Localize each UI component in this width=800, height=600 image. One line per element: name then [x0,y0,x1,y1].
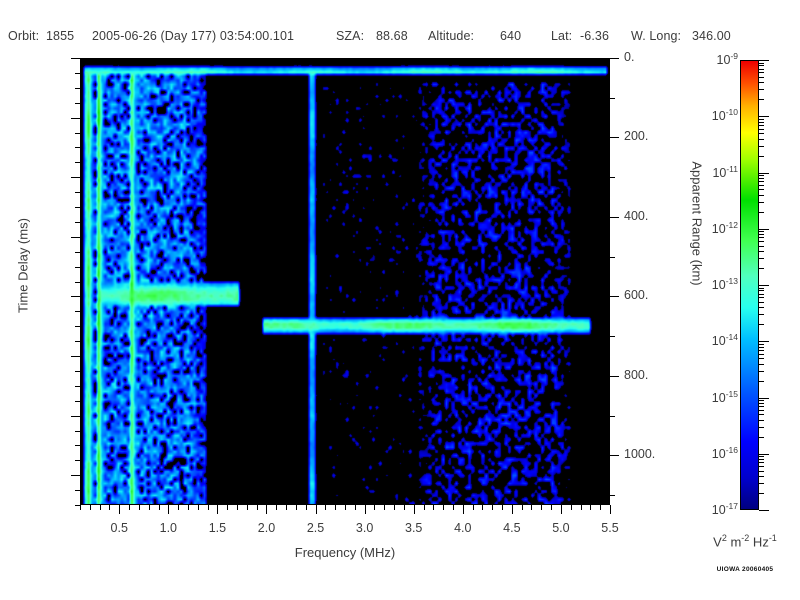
colorbar-tick-minor [759,297,764,298]
colorbar-tick-minor [759,459,764,460]
x-tick-minor [109,505,110,510]
x-tick-label-10: 5.5 [580,521,640,535]
y2-tick-minor [610,336,615,337]
x-tick-minor [571,505,572,510]
colorbar-tick-minor [759,294,764,295]
y2-tick-label-5: 1000. [624,447,655,461]
y2-tick-minor [610,98,615,99]
colorbar-tick-minor [759,350,764,351]
ionogram-page: Orbit:18552005-06-26 (Day 177) 03:54:00.… [0,0,800,600]
x-tick-minor [159,505,160,510]
x-tick-minor [247,505,248,510]
x-tick-minor [492,505,493,510]
y-tick-minor [75,147,80,148]
x-tick-major [316,505,317,514]
x-tick-minor [257,505,258,510]
y-tick-minor [75,192,80,193]
colorbar-tick-minor [759,476,764,477]
x-tick-minor [227,505,228,510]
colorbar-tick-major [759,341,769,342]
colorbar-tick-minor [759,133,764,134]
x-tick-minor [276,505,277,510]
x-axis-title: Frequency (MHz) [0,545,690,560]
y-tick-minor [75,386,80,387]
x-tick-major [561,505,562,514]
colorbar-tick-major [759,116,769,117]
x-tick-minor [208,505,209,510]
colorbar-tick-minor [759,324,764,325]
y-tick-minor [75,282,80,283]
y-tick-major [71,356,80,357]
colorbar-tick-minor [759,406,764,407]
y-tick-minor [75,326,80,327]
colorbar-tick-label-5: 10-14 [712,332,738,348]
x-tick-minor [502,505,503,510]
colorbar-tick-minor [759,63,764,64]
x-tick-minor [443,505,444,510]
header-label-2: SZA: [336,29,364,43]
x-tick-major [414,505,415,514]
y2-tick-major [610,296,619,297]
x-tick-major [119,505,120,514]
x-tick-minor [129,505,130,510]
colorbar-tick-minor [759,347,764,348]
x-tick-minor [100,505,101,510]
colorbar-tick-label-7: 10-16 [712,445,738,461]
x-tick-minor [139,505,140,510]
colorbar-tick-minor [759,195,764,196]
header-value-1: 2005-06-26 (Day 177) 03:54:00.101 [92,29,294,43]
y-tick-minor [75,103,80,104]
colorbar-tick-major [759,454,769,455]
header-value-4: -6.36 [580,29,609,43]
colorbar-tick-major [759,285,769,286]
y-tick-minor [75,73,80,74]
x-tick-minor [394,505,395,510]
x-tick-minor [424,505,425,510]
y2-tick-label-0: 0. [624,50,634,64]
y-tick-major [71,296,80,297]
colorbar [740,60,800,512]
x-tick-minor [296,505,297,510]
colorbar-tick-minor [759,471,764,472]
x-tick-minor [335,505,336,510]
header-value-2: 88.68 [376,29,408,43]
x-tick-minor [90,505,91,510]
y2-tick-major [610,376,619,377]
colorbar-tick-minor [759,358,764,359]
colorbar-tick-minor [759,122,764,123]
y-tick-minor [75,222,80,223]
colorbar-tick-minor [759,237,764,238]
header-value-3: 640 [500,29,521,43]
x-tick-minor [551,505,552,510]
x-tick-major [463,505,464,514]
colorbar-tick-minor [759,178,764,179]
y-axis-title: Time Delay (ms) [16,186,31,346]
colorbar-tick-minor [759,99,764,100]
x-tick-minor [345,505,346,510]
y2-tick-major [610,58,619,59]
x-tick-minor [286,505,287,510]
x-tick-minor [600,505,601,510]
x-tick-major [365,505,366,514]
colorbar-tick-minor [759,290,764,291]
colorbar-tick-minor [759,414,764,415]
colorbar-tick-minor [759,354,764,355]
y-tick-minor [75,431,80,432]
colorbar-tick-minor [759,189,764,190]
y-tick-minor [75,445,80,446]
x-tick-minor [198,505,199,510]
y-tick-minor [75,267,80,268]
colorbar-tick-minor [759,437,764,438]
colorbar-tick-minor [759,212,764,213]
colorbar-tick-minor [759,251,764,252]
colorbar-tick-minor [759,181,764,182]
colorbar-tick-label-2: 10-11 [712,164,738,180]
y-tick-minor [75,341,80,342]
colorbar-tick-minor [759,72,764,73]
y2-tick-label-3: 600. [624,288,648,302]
colorbar-tick-major [759,510,769,511]
colorbar-tick-minor [759,268,764,269]
colorbar-tick-minor [759,69,764,70]
colorbar-tick-minor [759,241,764,242]
x-tick-minor [355,505,356,510]
y2-tick-major [610,137,619,138]
x-tick-minor [188,505,189,510]
x-tick-minor [453,505,454,510]
colorbar-tick-minor [759,139,764,140]
y2-tick-minor [610,177,615,178]
x-tick-minor [325,505,326,510]
colorbar-tick-minor [759,175,764,176]
x-tick-minor [541,505,542,510]
colorbar-tick-minor [759,82,764,83]
y-tick-minor [75,207,80,208]
colorbar-tick-minor [759,185,764,186]
institution-credit: UIOWA 20060405 [690,566,800,573]
colorbar-ticks [740,60,800,512]
y2-tick-minor [610,416,615,417]
x-tick-minor [433,505,434,510]
y2-tick-minor [610,257,615,258]
y2-tick-label-4: 800. [624,368,648,382]
y-tick-minor [75,371,80,372]
y-tick-minor [75,133,80,134]
x-tick-minor [581,505,582,510]
colorbar-tick-minor [759,302,764,303]
y-tick-minor [75,162,80,163]
y2-tick-major [610,217,619,218]
y-tick-minor [75,460,80,461]
colorbar-tick-minor [759,371,764,372]
colorbar-tick-label-8: 10-17 [712,501,738,517]
colorbar-tick-minor [759,129,764,130]
colorbar-tick-minor [759,456,764,457]
x-tick-major [168,505,169,514]
x-tick-major [266,505,267,514]
colorbar-tick-minor [759,258,764,259]
colorbar-tick-minor [759,403,764,404]
colorbar-tick-minor [759,314,764,315]
colorbar-tick-minor [759,466,764,467]
x-tick-major [217,505,218,514]
y-tick-major [71,177,80,178]
colorbar-tick-label-4: 10-13 [712,276,738,292]
y-tick-minor [75,88,80,89]
x-tick-minor [531,505,532,510]
colorbar-tick-minor [759,493,764,494]
x-tick-minor [522,505,523,510]
colorbar-tick-major [759,173,769,174]
colorbar-tick-minor [759,462,764,463]
colorbar-tick-minor [759,231,764,232]
y2-tick-label-1: 200. [624,129,648,143]
x-tick-minor [482,505,483,510]
spectrogram-plot-area [80,58,610,505]
colorbar-tick-labels: 10-910-1010-1110-1210-1310-1410-1510-161… [686,52,738,522]
colorbar-tick-minor [759,288,764,289]
y-tick-minor [75,311,80,312]
colorbar-tick-minor [759,410,764,411]
y-tick-major [71,237,80,238]
colorbar-tick-minor [759,344,764,345]
y-tick-minor [75,401,80,402]
y-tick-major [71,475,80,476]
colorbar-tick-major [759,60,769,61]
x-tick-minor [374,505,375,510]
colorbar-tick-label-3: 10-12 [712,220,738,236]
x-tick-minor [178,505,179,510]
x-tick-minor [590,505,591,510]
y2-tick-minor [610,495,615,496]
header-label-3: Altitude: [428,29,474,43]
x-tick-minor [404,505,405,510]
colorbar-tick-minor [759,65,764,66]
colorbar-tick-minor [759,89,764,90]
colorbar-tick-minor [759,234,764,235]
x-tick-minor [306,505,307,510]
y-tick-major [71,58,80,59]
y-tick-major [71,118,80,119]
y-tick-minor [75,490,80,491]
colorbar-tick-minor [759,156,764,157]
y-tick-minor [75,252,80,253]
x-tick-major [610,505,611,514]
colorbar-tick-minor [759,427,764,428]
colorbar-tick-minor [759,420,764,421]
x-tick-minor [237,505,238,510]
colorbar-unit-label: V2 m-2 Hz-1 [690,533,800,549]
colorbar-tick-minor [759,364,764,365]
colorbar-tick-minor [759,246,764,247]
colorbar-tick-minor [759,400,764,401]
colorbar-tick-label-0: 10-9 [717,51,738,67]
x-tick-minor [384,505,385,510]
colorbar-tick-minor [759,483,764,484]
y-tick-major [71,416,80,417]
colorbar-tick-major [759,229,769,230]
y2-tick-label-2: 400. [624,209,648,223]
header-label-4: Lat: [551,29,572,43]
colorbar-tick-minor [759,125,764,126]
x-tick-major [512,505,513,514]
x-tick-minor [473,505,474,510]
colorbar-tick-label-6: 10-15 [712,389,738,405]
x-tick-minor [80,505,81,510]
x-tick-minor [149,505,150,510]
colorbar-tick-major [759,398,769,399]
colorbar-tick-minor [759,119,764,120]
colorbar-tick-label-1: 10-10 [712,107,738,123]
colorbar-tick-minor [759,77,764,78]
spectrogram-canvas [80,58,610,505]
y2-tick-major [610,455,619,456]
colorbar-tick-minor [759,307,764,308]
colorbar-tick-minor [759,202,764,203]
colorbar-tick-minor [759,381,764,382]
colorbar-tick-minor [759,146,764,147]
